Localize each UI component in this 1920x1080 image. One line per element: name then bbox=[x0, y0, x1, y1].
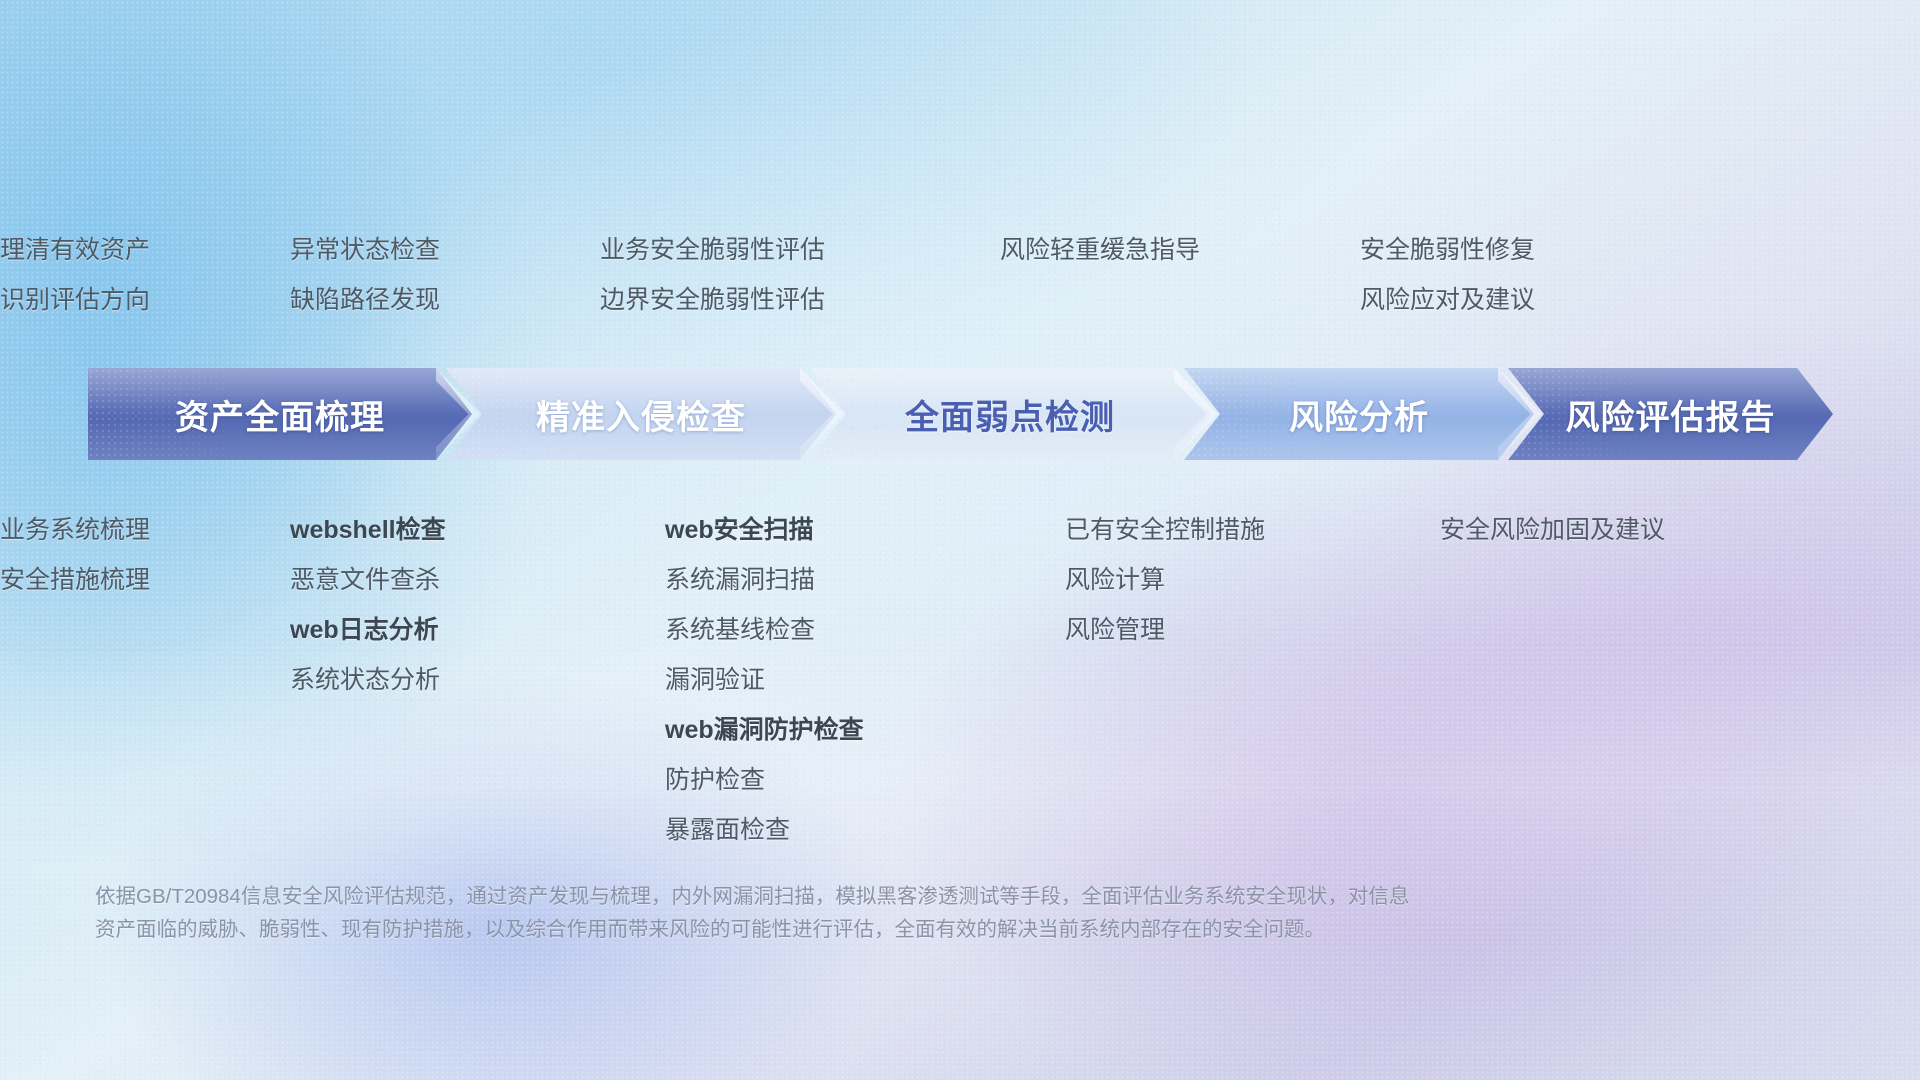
detail-item: 防护检查 bbox=[665, 768, 1055, 793]
detail-item: 漏洞验证 bbox=[665, 668, 1055, 693]
footer-description: 依据GB/T20984信息安全风险评估规范，通过资产发现与梳理，内外网漏洞扫描，… bbox=[95, 880, 1655, 946]
bottom-list-weakness-detection: web安全扫描 系统漏洞扫描 系统基线检查 漏洞验证 web漏洞防护检查 防护检… bbox=[665, 518, 1055, 843]
detail-item: 系统漏洞扫描 bbox=[665, 568, 1055, 593]
bottom-list-risk-analysis: 已有安全控制措施 风险计算 风险管理 bbox=[1065, 518, 1435, 643]
detail-item: 已有安全控制措施 bbox=[1065, 518, 1435, 543]
detail-item: 系统基线检查 bbox=[665, 618, 1055, 643]
detail-item: 暴露面检查 bbox=[665, 818, 1055, 843]
detail-item: 安全风险加固及建议 bbox=[1440, 518, 1860, 543]
bottom-list-risk-report: 安全风险加固及建议 bbox=[1440, 518, 1860, 543]
footer-line: 依据GB/T20984信息安全风险评估规范，通过资产发现与梳理，内外网漏洞扫描，… bbox=[95, 880, 1655, 913]
detail-item: 风险管理 bbox=[1065, 618, 1435, 643]
detail-item: web安全扫描 bbox=[665, 518, 1055, 543]
footer-line: 资产面临的威胁、脆弱性、现有防护措施，以及综合作用而带来风险的可能性进行评估，全… bbox=[95, 913, 1655, 946]
detail-item: 风险计算 bbox=[1065, 568, 1435, 593]
detail-item: web漏洞防护检查 bbox=[665, 718, 1055, 743]
slide-canvas: 理清有效资产 识别评估方向 异常状态检查 缺陷路径发现 业务安全脆弱性评估 边界… bbox=[0, 0, 1920, 1080]
